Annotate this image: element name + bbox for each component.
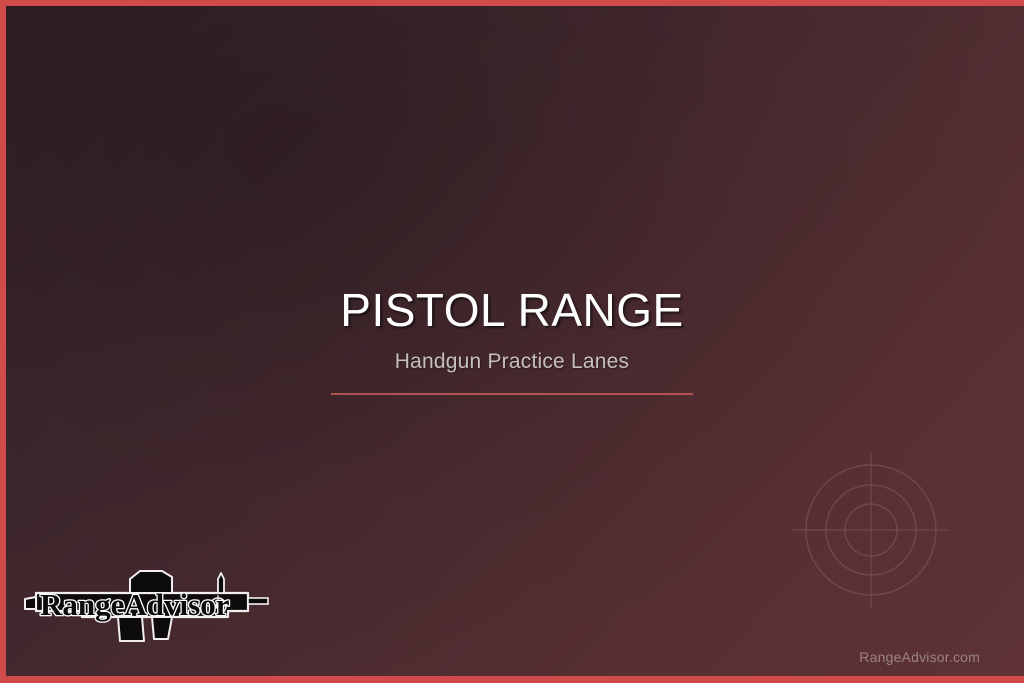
frame-border-top xyxy=(0,0,1024,6)
page-subtitle: Handgun Practice Lanes xyxy=(0,350,1024,374)
brand-logo-text: RangeAdvisor xyxy=(40,587,230,622)
brand-logo: RangeAdvisor xyxy=(22,559,270,643)
slide-canvas: PISTOL RANGE Handgun Practice Lanes xyxy=(0,0,1024,683)
title-block: PISTOL RANGE Handgun Practice Lanes xyxy=(0,286,1024,395)
target-crosshair-icon xyxy=(791,450,951,610)
accent-divider xyxy=(331,393,693,395)
frame-border-left xyxy=(0,0,6,683)
page-title: PISTOL RANGE xyxy=(0,286,1024,336)
footer-website: RangeAdvisor.com xyxy=(859,649,980,665)
frame-border-bottom xyxy=(0,676,1024,683)
